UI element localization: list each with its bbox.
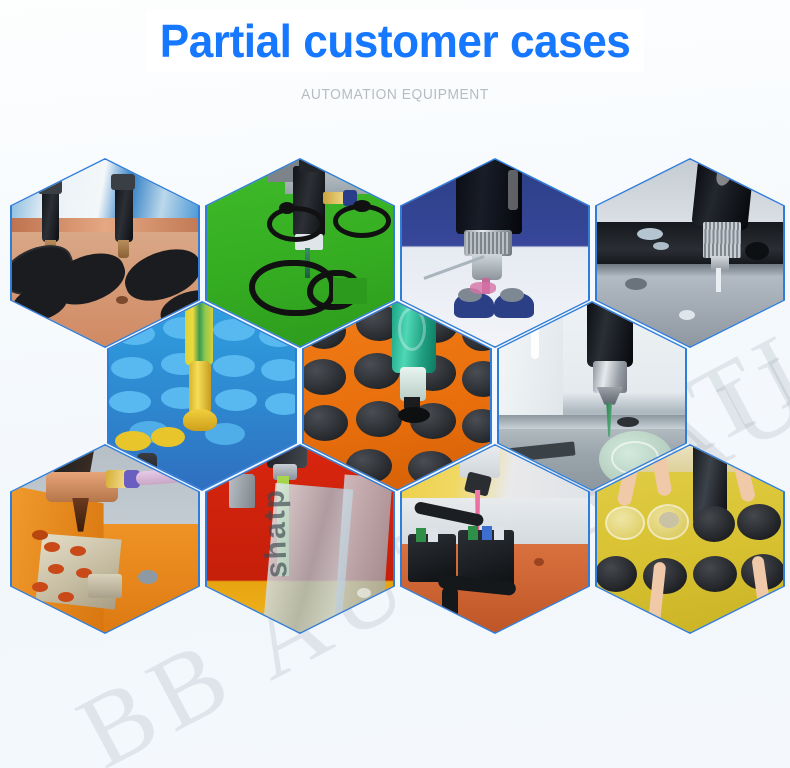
hexagon-gallery: shatp [0,0,790,768]
